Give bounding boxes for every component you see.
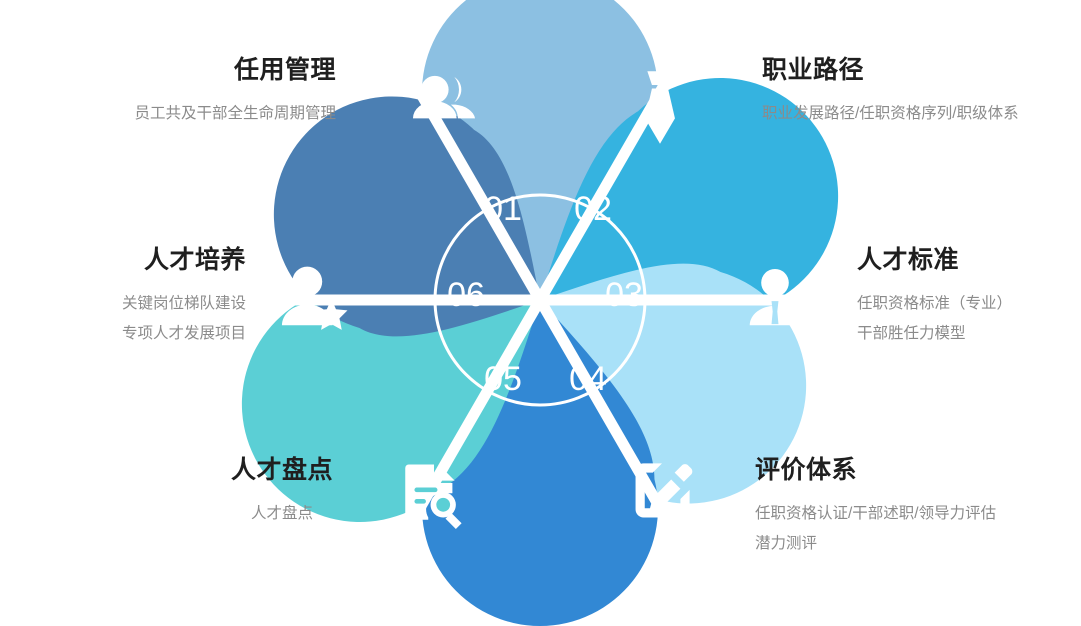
label-subtitle-04-1: 潜力测评: [755, 529, 996, 559]
label-petal-02[interactable]: 职业路径 职业发展路径/任职资格序列/职级体系: [762, 58, 1019, 129]
label-petal-05[interactable]: 人才盘点 人才盘点: [231, 458, 333, 529]
petal-number-05: 05: [484, 360, 522, 398]
diagram-canvas: 010203040506 任用管理 员工共及干部全生命周期管理 职业路径 职业发…: [0, 0, 1081, 626]
label-title-04: 评价体系: [755, 458, 996, 483]
label-title-03: 人才标准: [857, 248, 1012, 273]
petal-number-03: 03: [605, 276, 643, 314]
label-petal-06[interactable]: 人才培养 关键岗位梯队建设 专项人才发展项目: [122, 248, 246, 349]
label-subtitle-06-1: 专项人才发展项目: [122, 319, 246, 349]
label-petal-04[interactable]: 评价体系 任职资格认证/干部述职/领导力评估 潜力测评: [755, 458, 996, 559]
petal-number-06: 06: [447, 276, 485, 314]
label-subtitle-06-0: 关键岗位梯队建设: [122, 289, 246, 319]
petal-number-02: 02: [574, 190, 612, 228]
label-title-02: 职业路径: [762, 58, 1019, 83]
label-title-06: 人才培养: [122, 248, 246, 273]
label-subtitle-03-1: 干部胜任力模型: [857, 319, 1012, 349]
label-petal-03[interactable]: 人才标准 任职资格标准（专业） 干部胜任力模型: [857, 248, 1012, 349]
label-subtitle-02-0: 职业发展路径/任职资格序列/职级体系: [762, 99, 1019, 129]
label-title-01: 任用管理: [134, 58, 336, 83]
label-subtitle-03-0: 任职资格标准（专业）: [857, 289, 1012, 319]
label-title-05: 人才盘点: [231, 458, 333, 483]
label-petal-01[interactable]: 任用管理 员工共及干部全生命周期管理: [134, 58, 336, 129]
label-subtitle-01-0: 员工共及干部全生命周期管理: [134, 99, 336, 129]
label-subtitle-04-0: 任职资格认证/干部述职/领导力评估: [755, 499, 996, 529]
petal-number-04: 04: [569, 360, 607, 398]
petal-number-01: 01: [484, 190, 522, 228]
label-subtitle-05-0: 人才盘点: [231, 499, 333, 529]
